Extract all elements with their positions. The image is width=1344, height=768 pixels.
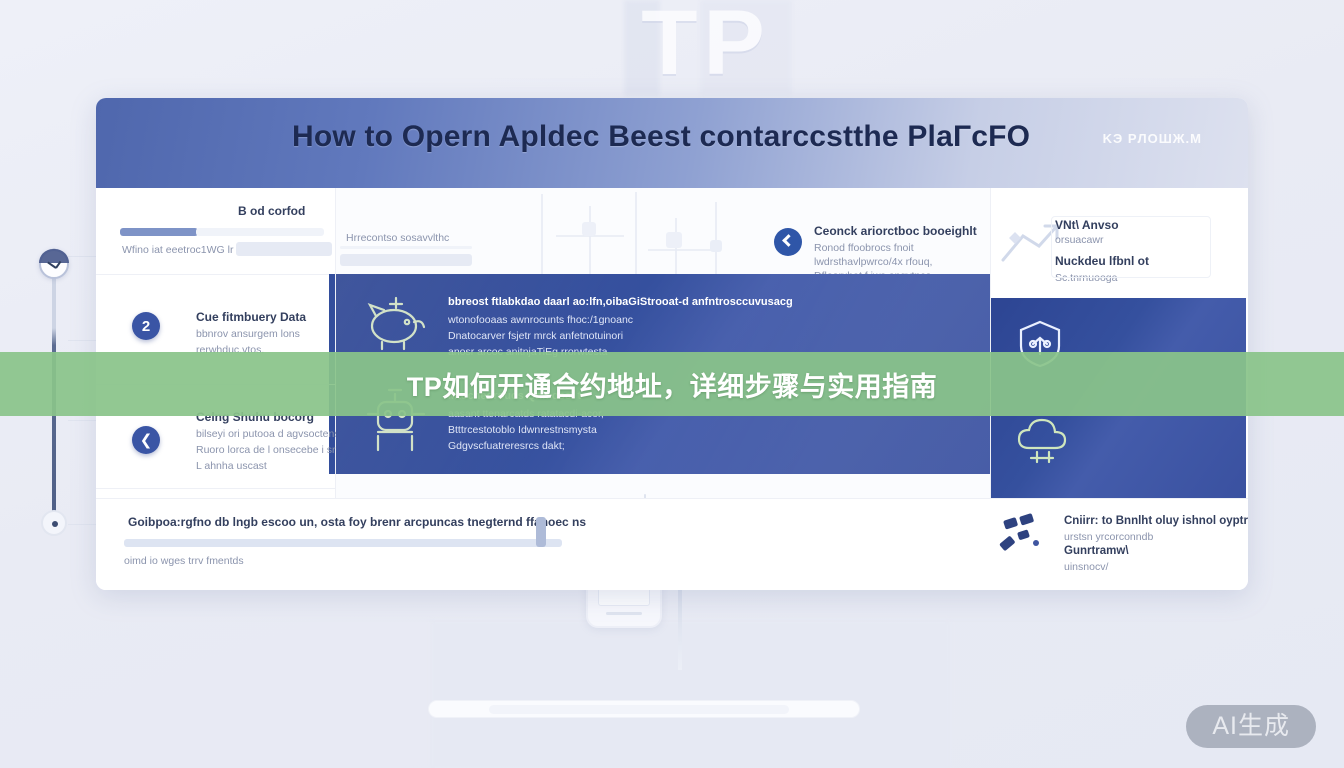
placeholder-bar — [536, 517, 546, 547]
ghost-progress-bar — [428, 700, 860, 718]
tp-watermark: TP — [596, 0, 816, 98]
settings-gears-icon — [998, 513, 1056, 565]
mid-blue-2-line-4: Gdgvscfuatreresrcs dakt; — [448, 440, 565, 452]
left-footer-sub: oimd io wges trrv fmentds — [124, 555, 244, 567]
row-divider — [96, 274, 335, 275]
left-top-label: B od corfod — [238, 204, 305, 218]
step-badge-2[interactable]: ❮ — [132, 426, 160, 454]
right-footer-sub-1: urstsn yrcorconndb — [1064, 531, 1153, 543]
left-footer-line: Goibpoa:rgfno db lngb escoo un, osta foy… — [128, 515, 586, 529]
headline-banner: TP如何开通合约地址，详细步骤与实用指南 — [0, 352, 1344, 416]
card-header: How to Opern Apldec Beest contarccstthe … — [96, 98, 1248, 188]
placeholder-bar — [340, 254, 472, 266]
mid-top-right-line-1: Ronod ffoobrocs fnoit — [814, 242, 914, 254]
card-title: How to Opern Apldec Beest contarccstthe … — [292, 120, 1030, 154]
schematic-illustration — [516, 188, 766, 280]
mid-top-right-line-2: lwdrsthavlpwrco/4x rfouq, — [814, 256, 932, 268]
left-item-2-line1: bilseyi ori putooa d agvsoctens — [196, 428, 340, 440]
placeholder-bar — [340, 246, 472, 249]
main-card: How to Opern Apldec Beest contarccstthe … — [96, 98, 1248, 590]
card-bottom-strip: Goibpoa:rgfno db lngb escoo un, osta foy… — [96, 498, 1248, 590]
right-top-outline-box — [1051, 216, 1211, 278]
step-badge-1[interactable]: 2 — [132, 312, 160, 340]
header-watermark: KЭ PЛOШЖ.M — [1103, 131, 1202, 146]
left-item-2-line2: Ruoro lorca de l onsecebe i sroc — [196, 444, 347, 456]
row-divider — [96, 488, 335, 489]
cloud-sync-icon — [1013, 414, 1071, 470]
mid-blue-2-line-3: Btttrcestotoblo Idwnrestnsmysta — [448, 424, 597, 436]
left-top-sub: Wfino iat eeetroc1WG lr — [122, 244, 233, 256]
timeline-end-dot — [41, 510, 67, 536]
left-item-1-line1: bbnrov ansurgem lons — [196, 328, 300, 340]
right-footer-heading: Cniirr: to Bnnlht oluy ishnol oyptrwdct — [1064, 515, 1248, 527]
headline-text: TP如何开通合约地址，详细步骤与实用指南 — [407, 365, 938, 404]
page-canvas: TP How to Opern Apldec Beest contarccstt… — [0, 0, 1344, 768]
placeholder-bar — [236, 242, 332, 256]
placeholder-bar — [120, 228, 198, 236]
mid-blue-1-line-1: bbreost ftlabkdao daarl ao:lfn,oibaGiStr… — [448, 296, 793, 308]
right-footer-sub-2: uinsnocv/ — [1064, 561, 1108, 573]
left-item-2-line3: L ahnha uscast — [196, 460, 267, 472]
placeholder-bar — [124, 539, 562, 547]
ghost-device-foot — [606, 612, 642, 615]
chevron-left-icon[interactable] — [774, 228, 802, 256]
pig-bank-icon — [362, 292, 434, 352]
left-item-1-heading: Cue fitmbuery Data — [196, 310, 306, 324]
mid-top-left-label: Hrrecontso sosavvlthc — [346, 232, 449, 244]
background-shape-3 — [430, 620, 950, 768]
placeholder-bar — [196, 228, 324, 236]
right-footer-heading-2: Gunrtramw\ — [1064, 545, 1129, 557]
ai-generated-badge: AI生成 — [1186, 705, 1316, 748]
mid-blue-1-line-2: wtonofooaas awnrocunts fhoc:/1gnoanc — [448, 314, 633, 326]
clock-icon — [39, 249, 69, 279]
mid-top-right-heading: Ceonck ariorctboc booeighlt — [814, 224, 977, 238]
mid-blue-1-line-3: Dnatocarver fsjetr mrck anfetnotuinori — [448, 330, 623, 342]
